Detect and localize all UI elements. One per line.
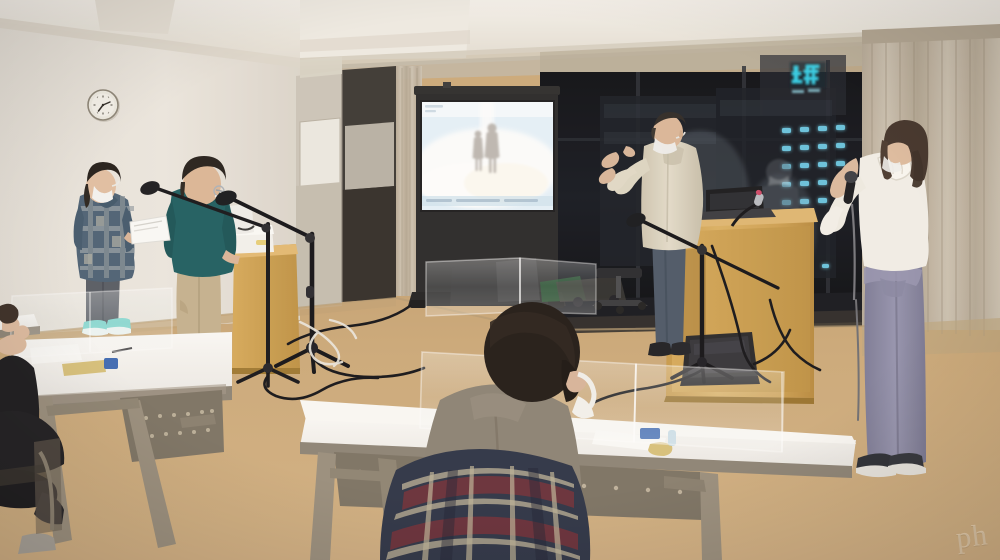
photograph-canvas: ph: [0, 0, 1000, 560]
scene-svg: [0, 0, 1000, 560]
watermark: ph: [954, 518, 990, 556]
